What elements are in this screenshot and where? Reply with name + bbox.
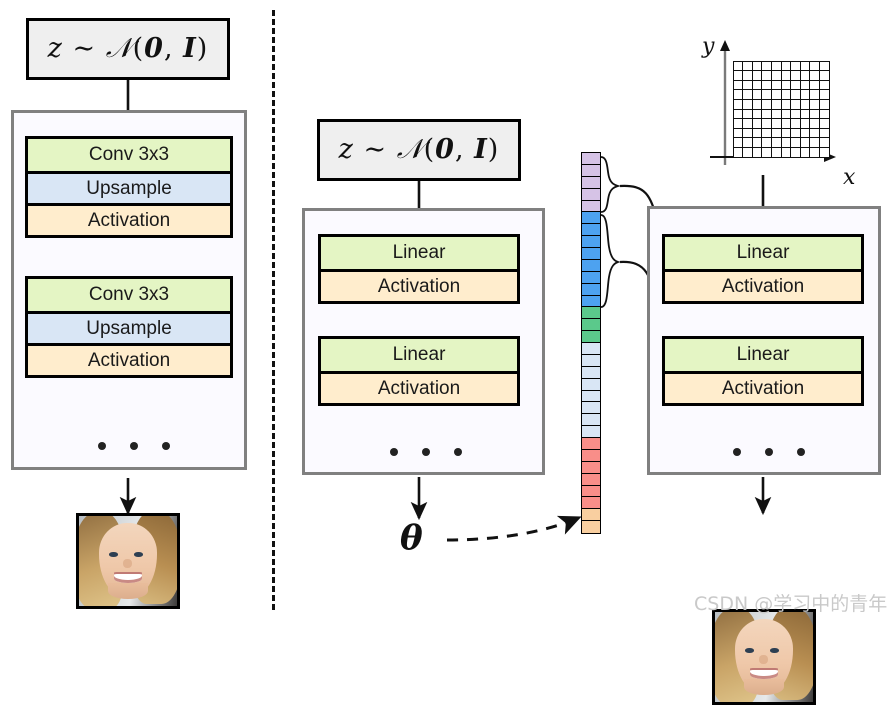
- middle-latent-box: z ~ N(0, I) z ∼ 𝒩(0, I): [317, 119, 521, 181]
- weights-vector-strip: [581, 152, 601, 534]
- weight-cell: [582, 319, 600, 331]
- watermark: CSDN @学习中的青年: [694, 589, 887, 616]
- weight-cell: [582, 402, 600, 414]
- layer-row-conv: Conv 3x3: [28, 139, 230, 171]
- right-ellipsis: · · ·: [733, 448, 805, 456]
- layer-row-activation: Activation: [28, 343, 230, 375]
- left-latent-box: z ~ N(0, I) z ∼ 𝒩(0, I): [26, 18, 230, 80]
- weight-cell: [582, 331, 600, 343]
- layer-row-linear: Linear: [665, 237, 861, 269]
- layer-row-activation: Activation: [321, 371, 517, 403]
- weight-cell: [582, 153, 600, 165]
- panel-divider: [272, 10, 275, 610]
- weight-cell: [582, 450, 600, 462]
- weight-cell: [582, 414, 600, 426]
- middle-ellipsis: · · ·: [390, 448, 462, 456]
- weight-cell: [582, 462, 600, 474]
- layer-row-activation: Activation: [28, 203, 230, 235]
- left-ellipsis: · · ·: [98, 442, 170, 450]
- weight-cell: [582, 224, 600, 236]
- middle-block-1: Linear Activation: [318, 234, 520, 304]
- layer-row-conv: Conv 3x3: [28, 279, 230, 311]
- layer-row-linear: Linear: [321, 237, 517, 269]
- middle-block-2: Linear Activation: [318, 336, 520, 406]
- weight-cell: [582, 248, 600, 260]
- left-block-2: Conv 3x3 Upsample Activation: [25, 276, 233, 378]
- layer-row-activation: Activation: [665, 371, 861, 403]
- y-axis-label: y: [702, 34, 714, 59]
- weight-cell: [582, 438, 600, 450]
- left-output-photo: [76, 513, 180, 609]
- weight-cell: [582, 509, 600, 521]
- theta-to-weights-arrow: [447, 518, 578, 540]
- layer-row-linear: Linear: [321, 339, 517, 371]
- weight-cell: [582, 355, 600, 367]
- layer-row-activation: Activation: [321, 269, 517, 301]
- coord-grid: [733, 61, 829, 157]
- weight-braces: [601, 157, 618, 307]
- layer-row-linear: Linear: [665, 339, 861, 371]
- weight-cell: [582, 201, 600, 213]
- weight-cell: [582, 165, 600, 177]
- weight-cell: [582, 260, 600, 272]
- weight-cell: [582, 367, 600, 379]
- right-block-2: Linear Activation: [662, 336, 864, 406]
- weight-cell: [582, 379, 600, 391]
- right-block-1: Linear Activation: [662, 234, 864, 304]
- layer-row-upsample: Upsample: [28, 171, 230, 203]
- right-output-photo: [712, 609, 816, 705]
- middle-latent-formula: z ∼ 𝒩(0, I): [339, 134, 500, 166]
- weight-cell: [582, 212, 600, 224]
- weight-cell: [582, 177, 600, 189]
- theta-symbol: θ: [400, 518, 423, 558]
- weight-cell: [582, 296, 600, 308]
- layer-row-upsample: Upsample: [28, 311, 230, 343]
- weight-cell: [582, 521, 600, 533]
- left-latent-formula: z ∼ 𝒩(0, I): [48, 33, 209, 65]
- layer-row-activation: Activation: [665, 269, 861, 301]
- weight-cell: [582, 307, 600, 319]
- weight-cell: [582, 497, 600, 509]
- weight-cell: [582, 426, 600, 438]
- weight-cell: [582, 272, 600, 284]
- weight-cell: [582, 343, 600, 355]
- left-block-1: Conv 3x3 Upsample Activation: [25, 136, 233, 238]
- weight-cell: [582, 284, 600, 296]
- weight-cell: [582, 391, 600, 403]
- weight-cell: [582, 189, 600, 201]
- weight-cell: [582, 236, 600, 248]
- weight-cell: [582, 486, 600, 498]
- grid-cell: [819, 147, 830, 158]
- x-axis-label: x: [843, 165, 855, 190]
- weight-cell: [582, 474, 600, 486]
